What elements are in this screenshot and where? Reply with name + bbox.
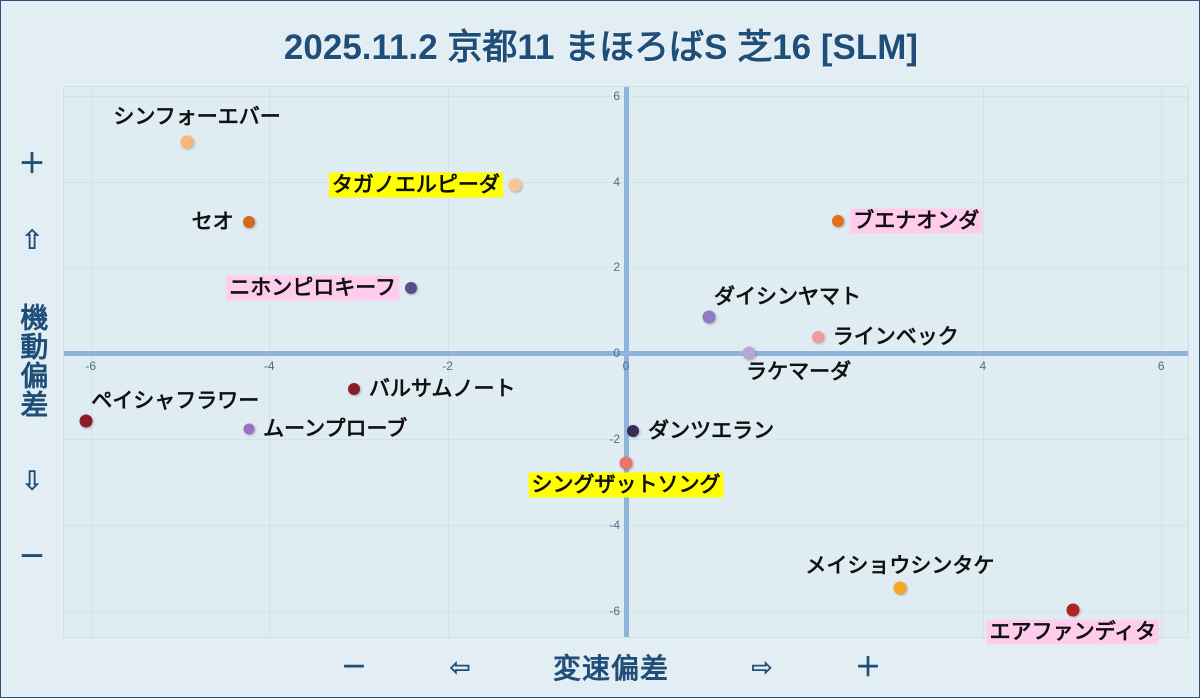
y-tick-label: 6 [613, 89, 620, 103]
data-point[interactable] [80, 415, 93, 428]
data-point-label: シンフォーエバー [110, 105, 283, 130]
data-point[interactable] [812, 331, 824, 343]
data-point-label: セオ [189, 210, 237, 235]
data-point-label: ダイシンヤマト [711, 284, 864, 309]
data-point-label: ラケマーダ [743, 359, 854, 384]
y-axis-down-arrow-icon: ⇩ [21, 468, 44, 495]
data-point-label: タガノエルピーダ [329, 172, 503, 197]
y-tick-label: -2 [609, 432, 620, 446]
y-tick-label: 2 [613, 260, 620, 274]
data-point[interactable] [509, 178, 522, 191]
data-point-label: シングザットソング [529, 473, 724, 498]
chart-frame: 2025.11.2 京都11 まほろばS 芝16 [SLM] ＋ ⇧ 機動偏差 … [0, 0, 1200, 698]
y-axis-title: ＋ ⇧ 機動偏差 ⇩ － [5, 151, 59, 571]
x-tick-label: -4 [264, 359, 275, 373]
data-point[interactable] [702, 310, 715, 323]
y-axis-minus-symbol: － [19, 544, 46, 571]
data-point[interactable] [743, 346, 756, 359]
x-tick-label: -6 [85, 359, 96, 373]
data-point[interactable] [832, 215, 844, 227]
scatter-plot-area: -6-4-20466420-2-4-6シンフォーエバータガノエルピーダセオブエナ… [63, 86, 1189, 638]
x-axis-left-arrow-icon: ⇦ [449, 654, 471, 680]
data-point-label: メイショウシンタケ [802, 553, 997, 578]
x-axis-title: － ⇦ 変速偏差 ⇨ ＋ [341, 645, 881, 689]
data-point[interactable] [893, 581, 906, 594]
data-point-label: ムーンプローブ [260, 417, 410, 442]
data-point-label: ブエナオンダ [850, 209, 982, 234]
data-point[interactable] [181, 136, 194, 149]
y-axis-plus-symbol: ＋ [19, 151, 46, 178]
data-point-label: バルサムノート [366, 377, 519, 402]
data-point[interactable] [243, 424, 254, 435]
y-tick-label: -4 [609, 518, 620, 532]
data-point[interactable] [405, 282, 417, 294]
y-axis-label-text: 機動偏差 [18, 303, 47, 419]
data-point-label: ペイシャフラワー [88, 389, 262, 414]
y-tick-label: 4 [613, 175, 620, 189]
x-tick-label: 6 [1158, 359, 1165, 373]
x-axis-right-arrow-icon: ⇨ [751, 654, 773, 680]
data-point[interactable] [243, 216, 255, 228]
x-tick-label: 0 [623, 359, 630, 373]
x-axis-minus-symbol: － [341, 654, 367, 680]
data-point-label: ラインベック [830, 325, 962, 350]
data-point[interactable] [620, 457, 633, 470]
data-point-label: ニホンピロキーフ [226, 275, 399, 300]
page-title: 2025.11.2 京都11 まほろばS 芝16 [SLM] [1, 19, 1200, 70]
x-axis-plus-symbol: ＋ [855, 654, 881, 680]
data-point-label: ダンツエラン [645, 418, 777, 443]
x-tick-label: 4 [979, 359, 986, 373]
data-point[interactable] [348, 383, 360, 395]
y-axis-up-arrow-icon: ⇧ [21, 227, 44, 254]
x-axis-label-text: 変速偏差 [553, 647, 669, 687]
data-point-label: エアファンディタ [987, 619, 1160, 644]
x-axis-line [64, 351, 1188, 356]
y-tick-label: 0 [613, 346, 620, 360]
x-tick-label: -2 [442, 359, 453, 373]
data-point[interactable] [627, 425, 639, 437]
data-point[interactable] [1066, 603, 1079, 616]
y-tick-label: -6 [609, 604, 620, 618]
